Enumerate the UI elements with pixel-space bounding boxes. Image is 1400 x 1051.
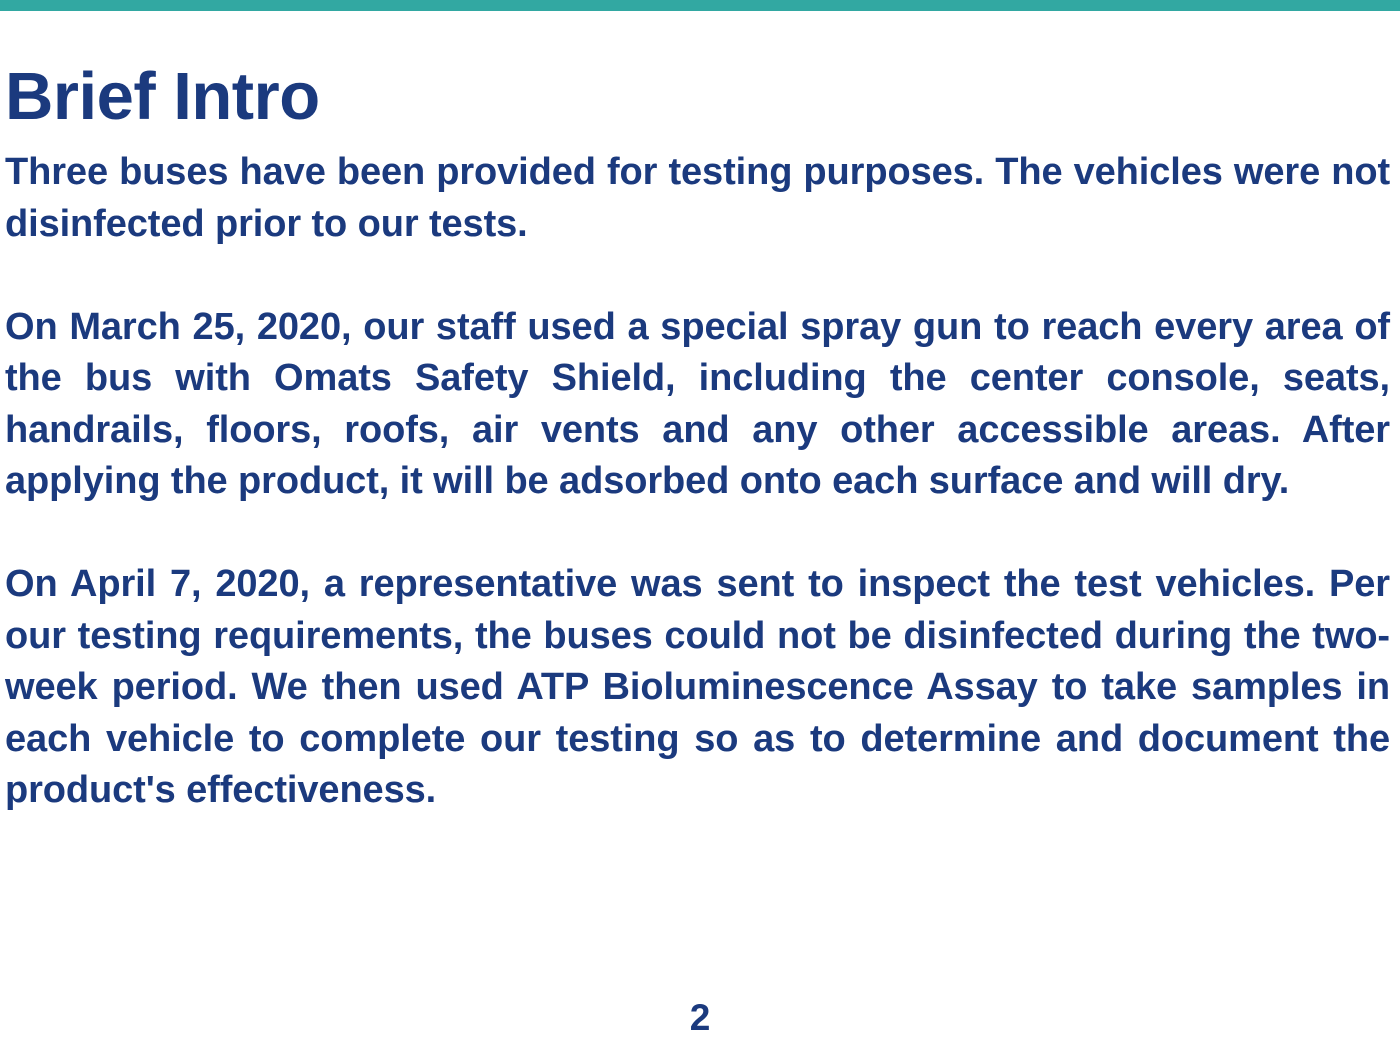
paragraph-spacer-1 xyxy=(5,250,1390,302)
paragraph-spacer-2 xyxy=(5,508,1390,560)
paragraph-3: On April 7, 2020, a representative was s… xyxy=(5,559,1390,817)
page-title: Brief Intro xyxy=(5,11,1390,134)
paragraph-2: On March 25, 2020, our staff used a spec… xyxy=(5,302,1390,508)
page-number: 2 xyxy=(0,997,1400,1039)
paragraph-1: Three buses have been provided for testi… xyxy=(5,147,1390,250)
body-text-block: Three buses have been provided for testi… xyxy=(5,147,1390,817)
slide: Brief Intro Three buses have been provid… xyxy=(0,0,1400,1051)
slide-content: Brief Intro Three buses have been provid… xyxy=(0,11,1400,817)
top-accent-bar xyxy=(0,0,1400,11)
